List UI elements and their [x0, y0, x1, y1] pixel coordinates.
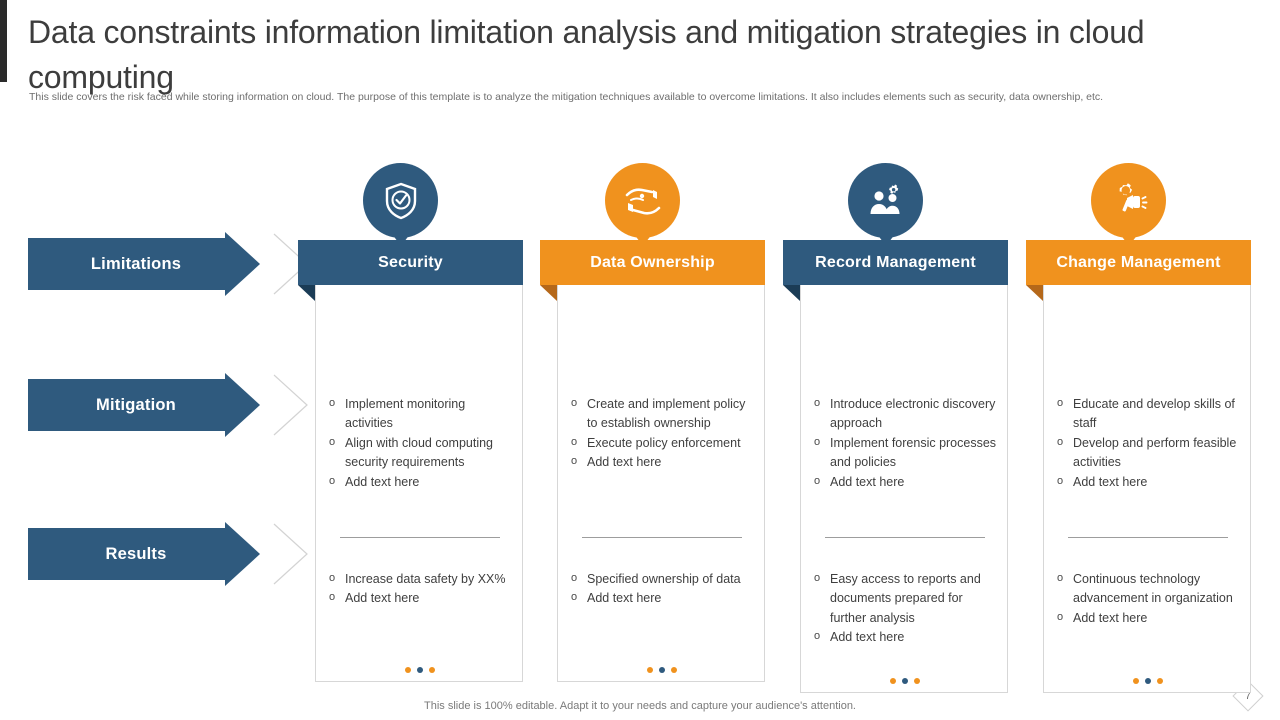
card-divider — [340, 537, 500, 538]
list-item: Create and implement policy to establish… — [567, 395, 757, 434]
column-card-security: Implement monitoring activities Align wi… — [315, 285, 523, 682]
list-item: Implement forensic processes and policie… — [810, 434, 1000, 473]
dot — [890, 678, 896, 684]
list-item: Add text here — [567, 453, 757, 472]
dot — [417, 667, 423, 673]
shield-check-icon — [363, 163, 438, 238]
banner-fold-icon — [1026, 285, 1043, 301]
dot — [429, 667, 435, 673]
column-header-record-management[interactable]: Record Management — [783, 240, 1008, 285]
dot — [902, 678, 908, 684]
slide-canvas: Data constraints information limitation … — [0, 0, 1280, 720]
megaphone-gear-icon — [1091, 163, 1166, 238]
dot — [1145, 678, 1151, 684]
card-divider — [825, 537, 985, 538]
column-header-security[interactable]: Security — [298, 240, 523, 285]
row-label-results-text: Results — [28, 528, 230, 580]
list-item: Add text here — [325, 473, 515, 492]
banner-fold-icon — [783, 285, 800, 301]
column-card-change-management: Educate and develop skills of staff Deve… — [1043, 285, 1251, 693]
row-label-limitations[interactable]: Limitations — [28, 238, 260, 290]
column-card-record-management: Introduce electronic discovery approach … — [800, 285, 1008, 693]
dot — [671, 667, 677, 673]
column-header-label: Data Ownership — [590, 254, 715, 272]
arrow-outline-icon — [240, 374, 274, 436]
row-label-limitations-text: Limitations — [28, 238, 230, 290]
list-item: Add text here — [325, 589, 515, 608]
card-dots-change-management — [1044, 678, 1252, 684]
list-item: Increase data safety by XX% — [325, 570, 515, 589]
banner-fold-icon — [540, 285, 557, 301]
list-item: Easy access to reports and documents pre… — [810, 570, 1000, 628]
results-list-change-management: Continuous technology advancement in org… — [1053, 570, 1243, 628]
arrow-outline-icon — [240, 233, 274, 295]
list-item: Add text here — [810, 473, 1000, 492]
card-dots-security — [316, 667, 524, 673]
card-dots-data-ownership — [558, 667, 766, 673]
people-gear-icon — [848, 163, 923, 238]
results-list-record-management: Easy access to reports and documents pre… — [810, 570, 1000, 648]
footer-note: This slide is 100% editable. Adapt it to… — [0, 700, 1280, 712]
dot — [1157, 678, 1163, 684]
list-item: Implement monitoring activities — [325, 395, 515, 434]
dot — [405, 667, 411, 673]
results-list-data-ownership: Specified ownership of data Add text her… — [567, 570, 757, 609]
row-label-mitigation-text: Mitigation — [28, 379, 230, 431]
list-item: Align with cloud computing security requ… — [325, 434, 515, 473]
column-header-label: Record Management — [815, 254, 976, 272]
dot — [1133, 678, 1139, 684]
list-item: Add text here — [1053, 473, 1243, 492]
dot — [659, 667, 665, 673]
mitigation-list-change-management: Educate and develop skills of staff Deve… — [1053, 395, 1243, 492]
dot — [647, 667, 653, 673]
row-label-mitigation[interactable]: Mitigation — [28, 379, 260, 431]
page-subtitle: This slide covers the risk faced while s… — [29, 90, 1181, 105]
list-item: Develop and perform feasible activities — [1053, 434, 1243, 473]
mitigation-list-security: Implement monitoring activities Align wi… — [325, 395, 515, 492]
banner-fold-icon — [298, 285, 315, 301]
list-item: Execute policy enforcement — [567, 434, 757, 453]
column-header-data-ownership[interactable]: Data Ownership — [540, 240, 765, 285]
column-header-label: Change Management — [1056, 254, 1220, 272]
page-title: Data constraints information limitation … — [28, 10, 1193, 101]
card-dots-record-management — [801, 678, 1009, 684]
mitigation-list-data-ownership: Create and implement policy to establish… — [567, 395, 757, 473]
list-item: Specified ownership of data — [567, 570, 757, 589]
list-item: Add text here — [810, 628, 1000, 647]
arrow-outline-icon — [240, 523, 274, 585]
mitigation-list-record-management: Introduce electronic discovery approach … — [810, 395, 1000, 492]
column-header-change-management[interactable]: Change Management — [1026, 240, 1251, 285]
left-edge-accent-bar — [0, 0, 7, 82]
list-item: Educate and develop skills of staff — [1053, 395, 1243, 434]
dot — [914, 678, 920, 684]
list-item: Introduce electronic discovery approach — [810, 395, 1000, 434]
results-list-security: Increase data safety by XX% Add text her… — [325, 570, 515, 609]
column-header-label: Security — [378, 254, 443, 272]
hands-data-icon — [605, 163, 680, 238]
list-item: Continuous technology advancement in org… — [1053, 570, 1243, 609]
list-item: Add text here — [567, 589, 757, 608]
card-divider — [582, 537, 742, 538]
card-divider — [1068, 537, 1228, 538]
column-card-data-ownership: Create and implement policy to establish… — [557, 285, 765, 682]
row-label-results[interactable]: Results — [28, 528, 260, 580]
list-item: Add text here — [1053, 609, 1243, 628]
